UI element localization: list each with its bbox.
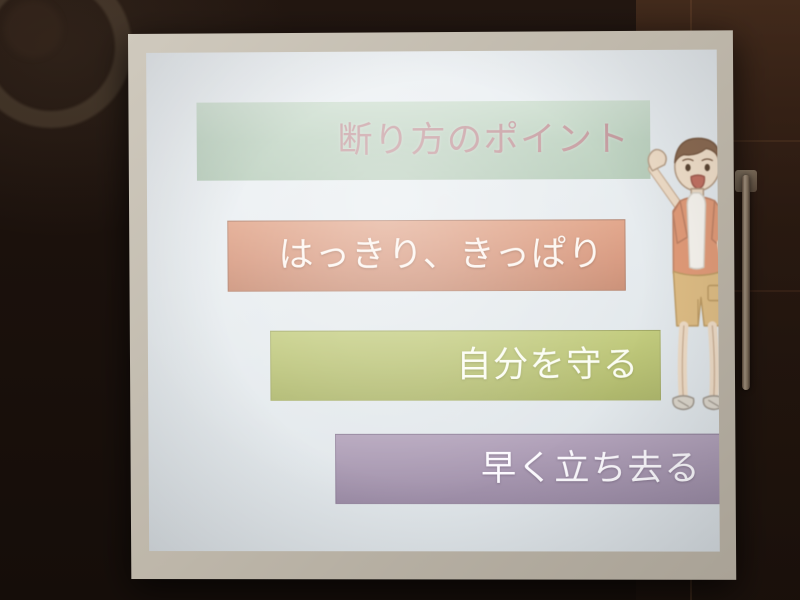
point-bar-2: 自分を守る	[270, 330, 661, 401]
point-bar-2-label: 自分を守る	[456, 348, 660, 384]
point-bar-3: 早く立ち去る	[335, 434, 720, 505]
wall-ring-inner-shadow	[4, 0, 62, 58]
projection-screen: 断り方のポイント はっきり、きっぱり 自分を守る 早く立ち去る	[128, 30, 736, 580]
point-bar-3-label: 早く立ち去る	[481, 451, 720, 486]
point-bar-1: はっきり、きっぱり	[227, 219, 626, 292]
page-title: 断り方のポイント	[337, 122, 650, 159]
door-handle[interactable]	[742, 175, 750, 390]
point-bar-1-label: はっきり、きっぱり	[278, 237, 624, 273]
presentation-slide: 断り方のポイント はっきり、きっぱり 自分を守る 早く立ち去る	[146, 50, 720, 552]
boy-waving-illustration	[630, 130, 720, 443]
slide-title-banner: 断り方のポイント	[196, 100, 650, 180]
